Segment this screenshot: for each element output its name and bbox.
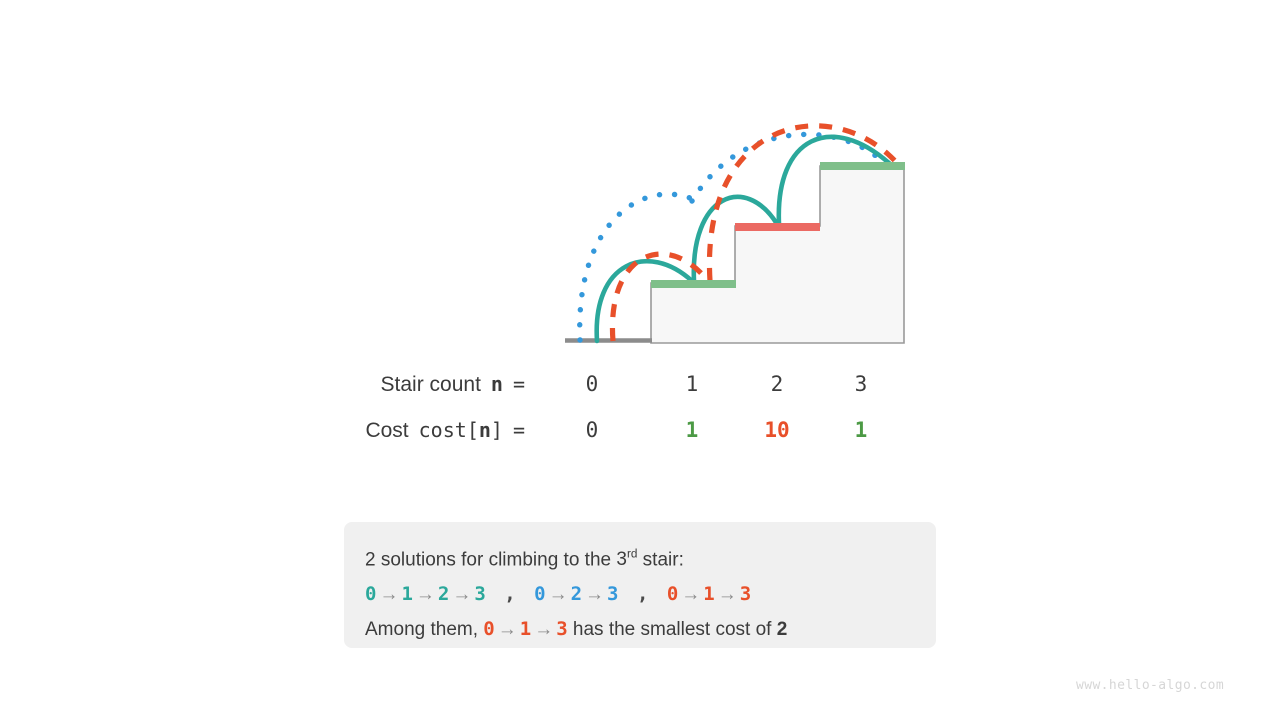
path-arrow-icon: →	[582, 584, 607, 605]
tread-stair3-green	[820, 162, 905, 170]
cell-cost-3: 1	[831, 413, 891, 447]
path-node: 0	[483, 618, 494, 640]
row-stair-count: Stair countn= 0 1 2 3	[0, 367, 1280, 401]
path-node: 3	[607, 583, 618, 605]
solution-path: 0→1→2→3	[365, 583, 486, 605]
optimal-cost-value: 2	[777, 619, 788, 640]
explanation-line-conclusion: Among them, 0→1→3 has the smallest cost …	[365, 612, 936, 647]
cell-cost-0: 0	[562, 413, 622, 447]
staircase-outline	[651, 166, 904, 343]
path-arrow-icon: →	[449, 584, 474, 605]
row-stair-count-equals: =	[513, 372, 525, 396]
row-stair-count-label: Stair countn=	[381, 367, 525, 402]
cell-n-1: 1	[662, 367, 722, 401]
path-arrow-icon: →	[531, 619, 556, 640]
solution-path: 0→2→3	[534, 583, 618, 605]
cell-n-2: 2	[747, 367, 807, 401]
cell-n-3: 3	[831, 367, 891, 401]
path-arrow-icon: →	[413, 584, 438, 605]
path-node: 1	[703, 583, 714, 605]
path-arrow-icon: →	[495, 619, 520, 640]
path-separator: ,	[619, 583, 667, 605]
path-node: 0	[534, 583, 545, 605]
path-node: 3	[474, 583, 485, 605]
path-arrow-icon: →	[546, 584, 571, 605]
row-cost: Costcost[n]= 0 1 10 1	[0, 413, 1280, 447]
row-cost-equals: =	[513, 418, 525, 442]
path-node: 2	[438, 583, 449, 605]
explanation-line-paths: 0→1→2→3 , 0→2→3 , 0→1→3	[365, 577, 936, 612]
cell-cost-1: 1	[662, 413, 722, 447]
tread-stair2-red	[735, 223, 820, 231]
row-cost-label-text: Cost	[365, 419, 408, 442]
path-separator: ,	[486, 583, 534, 605]
path-node: 0	[365, 583, 376, 605]
explanation-box: 2 solutions for climbing to the 3rd stai…	[344, 522, 936, 648]
row-cost-var: cost[n]	[409, 418, 513, 442]
optimal-path: 0→1→3	[483, 619, 567, 640]
watermark: www.hello-algo.com	[1076, 678, 1224, 693]
ordinal-3rd: 3rd	[616, 549, 637, 570]
path-node: 3	[556, 618, 567, 640]
cell-n-0: 0	[562, 367, 622, 401]
path-arrow-icon: →	[715, 584, 740, 605]
row-stair-count-var: n	[481, 372, 513, 396]
row-cost-label: Costcost[n]=	[365, 413, 525, 448]
path-node: 0	[667, 583, 678, 605]
path-node: 3	[740, 583, 751, 605]
staircase-body	[651, 166, 904, 343]
tread-stair1-green	[651, 280, 736, 288]
path-node: 1	[520, 618, 531, 640]
path-node: 1	[401, 583, 412, 605]
solution-path: 0→1→3	[667, 583, 751, 605]
path-arrow-icon: →	[376, 584, 401, 605]
cell-cost-2: 10	[747, 413, 807, 447]
path-node: 2	[571, 583, 582, 605]
explanation-line-1: 2 solutions for climbing to the 3rd stai…	[365, 538, 936, 577]
path-arrow-icon: →	[678, 584, 703, 605]
row-stair-count-label-text: Stair count	[381, 373, 481, 396]
